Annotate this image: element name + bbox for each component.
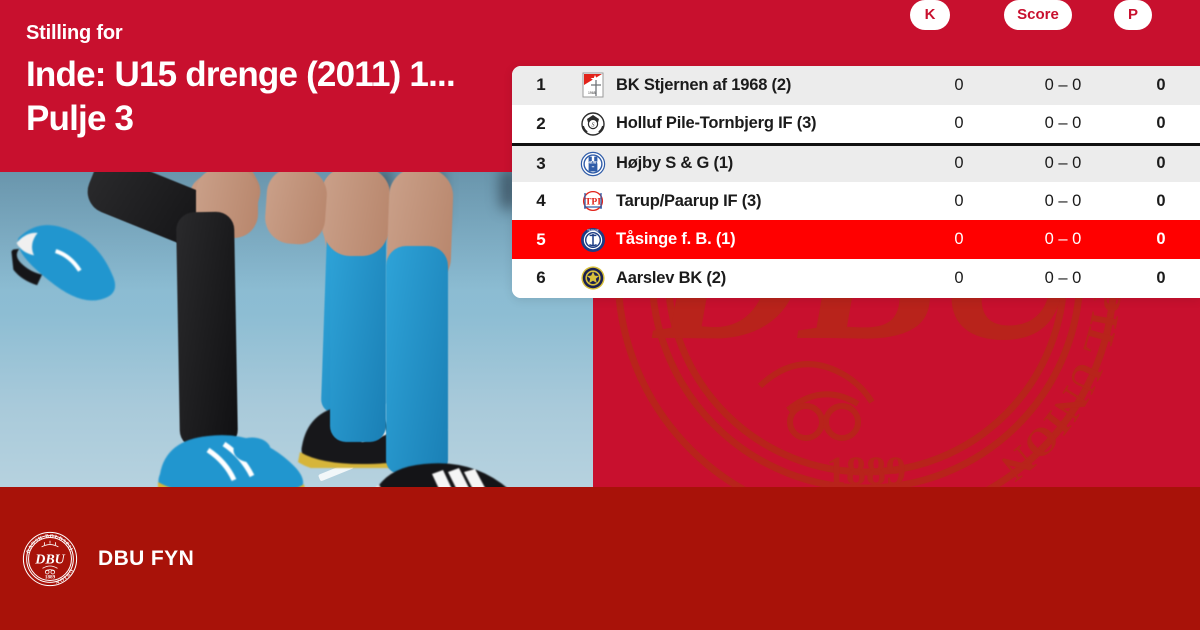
row-k: 0 <box>914 114 1004 133</box>
row-team-name: Tarup/Paarup IF (3) <box>616 192 914 211</box>
row-team-name: BK Stjernen af 1968 (2) <box>616 76 914 95</box>
row-position: 6 <box>512 268 570 288</box>
player-shoe <box>356 454 532 487</box>
player-sock <box>330 226 386 442</box>
row-p: 0 <box>1122 230 1200 249</box>
indoor-futsal-players-photo <box>0 172 593 487</box>
footer: DANSK BOLDSPIL UNION DBU 1889 DBU FYN <box>0 487 1200 630</box>
column-header-k: K <box>910 0 950 30</box>
row-position: 4 <box>512 191 570 211</box>
table-row[interactable]: 2 S Holluf Pile-Tornbjerg IF (3) 0 0 – 0… <box>512 105 1200 144</box>
row-p: 0 <box>1122 114 1200 133</box>
svg-text:HØJBY: HØJBY <box>588 160 600 164</box>
svg-text:1889: 1889 <box>45 574 56 580</box>
column-header-score: Score <box>1004 0 1072 30</box>
row-p: 0 <box>1122 76 1200 95</box>
row-p: 0 <box>1122 154 1200 173</box>
row-k: 0 <box>914 76 1004 95</box>
table-row[interactable]: 3 HØJBY Højby S & G (1) 0 0 – 0 0 <box>512 143 1200 182</box>
dbu-emblem: DANSK BOLDSPIL UNION DBU 1889 <box>22 531 78 587</box>
svg-text:S: S <box>592 122 595 128</box>
row-k: 0 <box>914 192 1004 211</box>
row-score: 0 – 0 <box>1004 269 1122 288</box>
hojby-sg-logo: HØJBY <box>570 151 616 177</box>
row-team-name: Højby S & G (1) <box>616 154 914 173</box>
svg-text:DANSK BOLDSPIL: DANSK BOLDSPIL <box>25 533 74 554</box>
row-score: 0 – 0 <box>1004 192 1122 211</box>
row-p: 0 <box>1122 269 1200 288</box>
table-row[interactable]: 1 1968 BK Stjernen af 1968 (2) 0 0 – 0 0 <box>512 66 1200 105</box>
row-p: 0 <box>1122 192 1200 211</box>
player-leg <box>263 172 328 246</box>
player-shoe <box>7 199 125 310</box>
table-row[interactable]: 4 TPI Tarup/Paarup IF (3) 0 0 – 0 0 <box>512 182 1200 221</box>
page-title: Inde: U15 drenge (2011) 1... Pulje 3 <box>26 53 574 141</box>
row-team-name: Holluf Pile-Tornbjerg IF (3) <box>616 114 914 133</box>
standings-table: 1 1968 BK Stjernen af 1968 (2) 0 0 – 0 0… <box>512 66 1200 298</box>
footer-brand: DBU FYN <box>98 547 194 571</box>
row-k: 0 <box>914 269 1004 288</box>
row-score: 0 – 0 <box>1004 154 1122 173</box>
svg-text:TPI: TPI <box>585 197 601 208</box>
holluf-pile-tornbjerg-logo: S <box>570 111 616 137</box>
table-row[interactable]: 6 Aarslev BK (2) 0 0 – 0 0 <box>512 259 1200 298</box>
player-leg <box>324 172 388 256</box>
row-k: 0 <box>914 230 1004 249</box>
header-kicker: Stilling for <box>26 22 574 44</box>
column-header-p: P <box>1114 0 1152 30</box>
stilling-graphic: DANSK BOLDSPIL UNION DBU 1889 Stilling f… <box>0 0 1200 630</box>
tarup-paarup-logo: TPI <box>570 188 616 214</box>
svg-text:1968: 1968 <box>588 91 596 95</box>
table-row-highlighted[interactable]: 5 TÅSINGE Tåsinge f. B. (1) 0 0 – 0 0 <box>512 220 1200 259</box>
row-position: 1 <box>512 75 570 95</box>
row-score: 0 – 0 <box>1004 230 1122 249</box>
row-position: 3 <box>512 154 570 174</box>
row-k: 0 <box>914 154 1004 173</box>
row-team-name: Tåsinge f. B. (1) <box>616 230 914 249</box>
aarslev-bk-logo <box>570 265 616 291</box>
player-sock <box>176 212 238 449</box>
row-score: 0 – 0 <box>1004 76 1122 95</box>
taasinge-fb-logo: TÅSINGE <box>570 227 616 253</box>
player-sock <box>386 246 448 474</box>
row-team-name: Aarslev BK (2) <box>616 269 914 288</box>
row-score: 0 – 0 <box>1004 114 1122 133</box>
header: Stilling for Inde: U15 drenge (2011) 1..… <box>0 0 600 172</box>
svg-text:DBU: DBU <box>34 552 65 567</box>
row-position: 2 <box>512 114 570 134</box>
bk-stjernen-logo: 1968 <box>570 72 616 98</box>
row-position: 5 <box>512 230 570 250</box>
player-shoe <box>148 424 308 487</box>
